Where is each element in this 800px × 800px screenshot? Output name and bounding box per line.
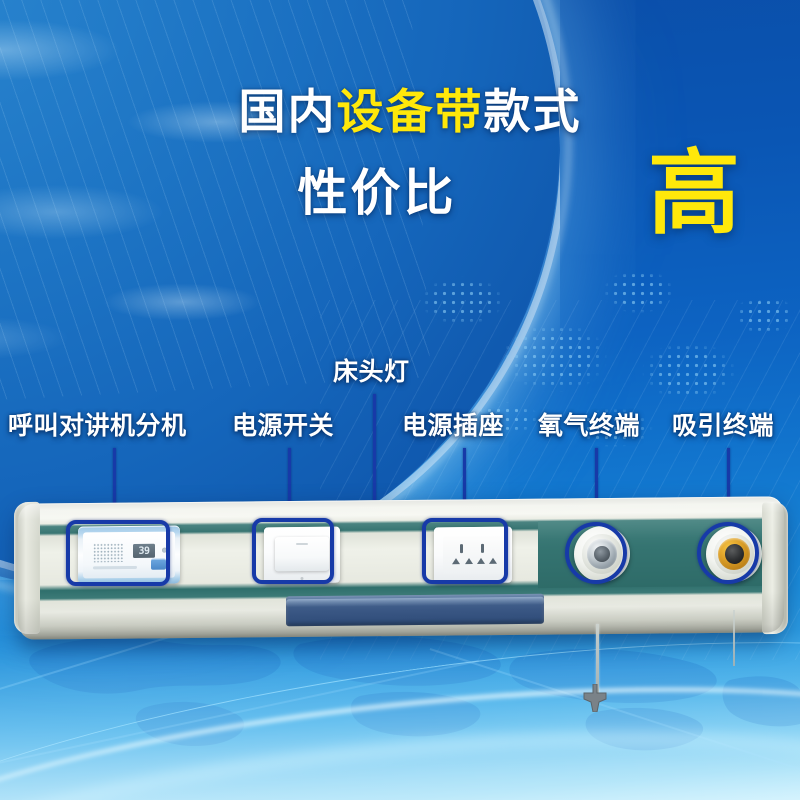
highlight-power-switch xyxy=(252,518,334,584)
headline-emphasis-gao: 高 xyxy=(648,148,740,240)
callout-label-power-socket: 电源插座 xyxy=(402,414,504,439)
headline-part-2: 设备带 xyxy=(337,85,484,138)
bottom-glow xyxy=(0,630,800,800)
callout-label-intercom: 呼叫对讲机分机 xyxy=(8,414,187,439)
callout-label-oxygen: 氧气终端 xyxy=(538,414,640,439)
highlight-suction xyxy=(697,522,759,584)
headline-line-1: 国内设备带款式 xyxy=(0,88,800,135)
suction-hanging-cord xyxy=(733,610,735,666)
bed-lamp-diffuser[interactable] xyxy=(286,594,544,626)
headline-part-1: 国内 xyxy=(239,85,337,138)
panel-end-cap-right xyxy=(762,502,788,634)
highlight-intercom xyxy=(66,520,170,586)
bed-lamp-gloss xyxy=(286,597,544,607)
panel-end-cap-left xyxy=(14,502,40,634)
callout-label-power-switch: 电源开关 xyxy=(232,414,334,439)
highlight-oxygen xyxy=(565,522,627,584)
headline-part-3: 款式 xyxy=(484,85,582,138)
cord-cross-connector-icon xyxy=(580,684,610,712)
callout-label-suction: 吸引终端 xyxy=(672,414,774,439)
callout-label-bed-lamp: 床头灯 xyxy=(333,360,410,385)
highlight-power-socket xyxy=(422,518,508,584)
headline-line-2-text: 性价比 xyxy=(298,165,457,221)
